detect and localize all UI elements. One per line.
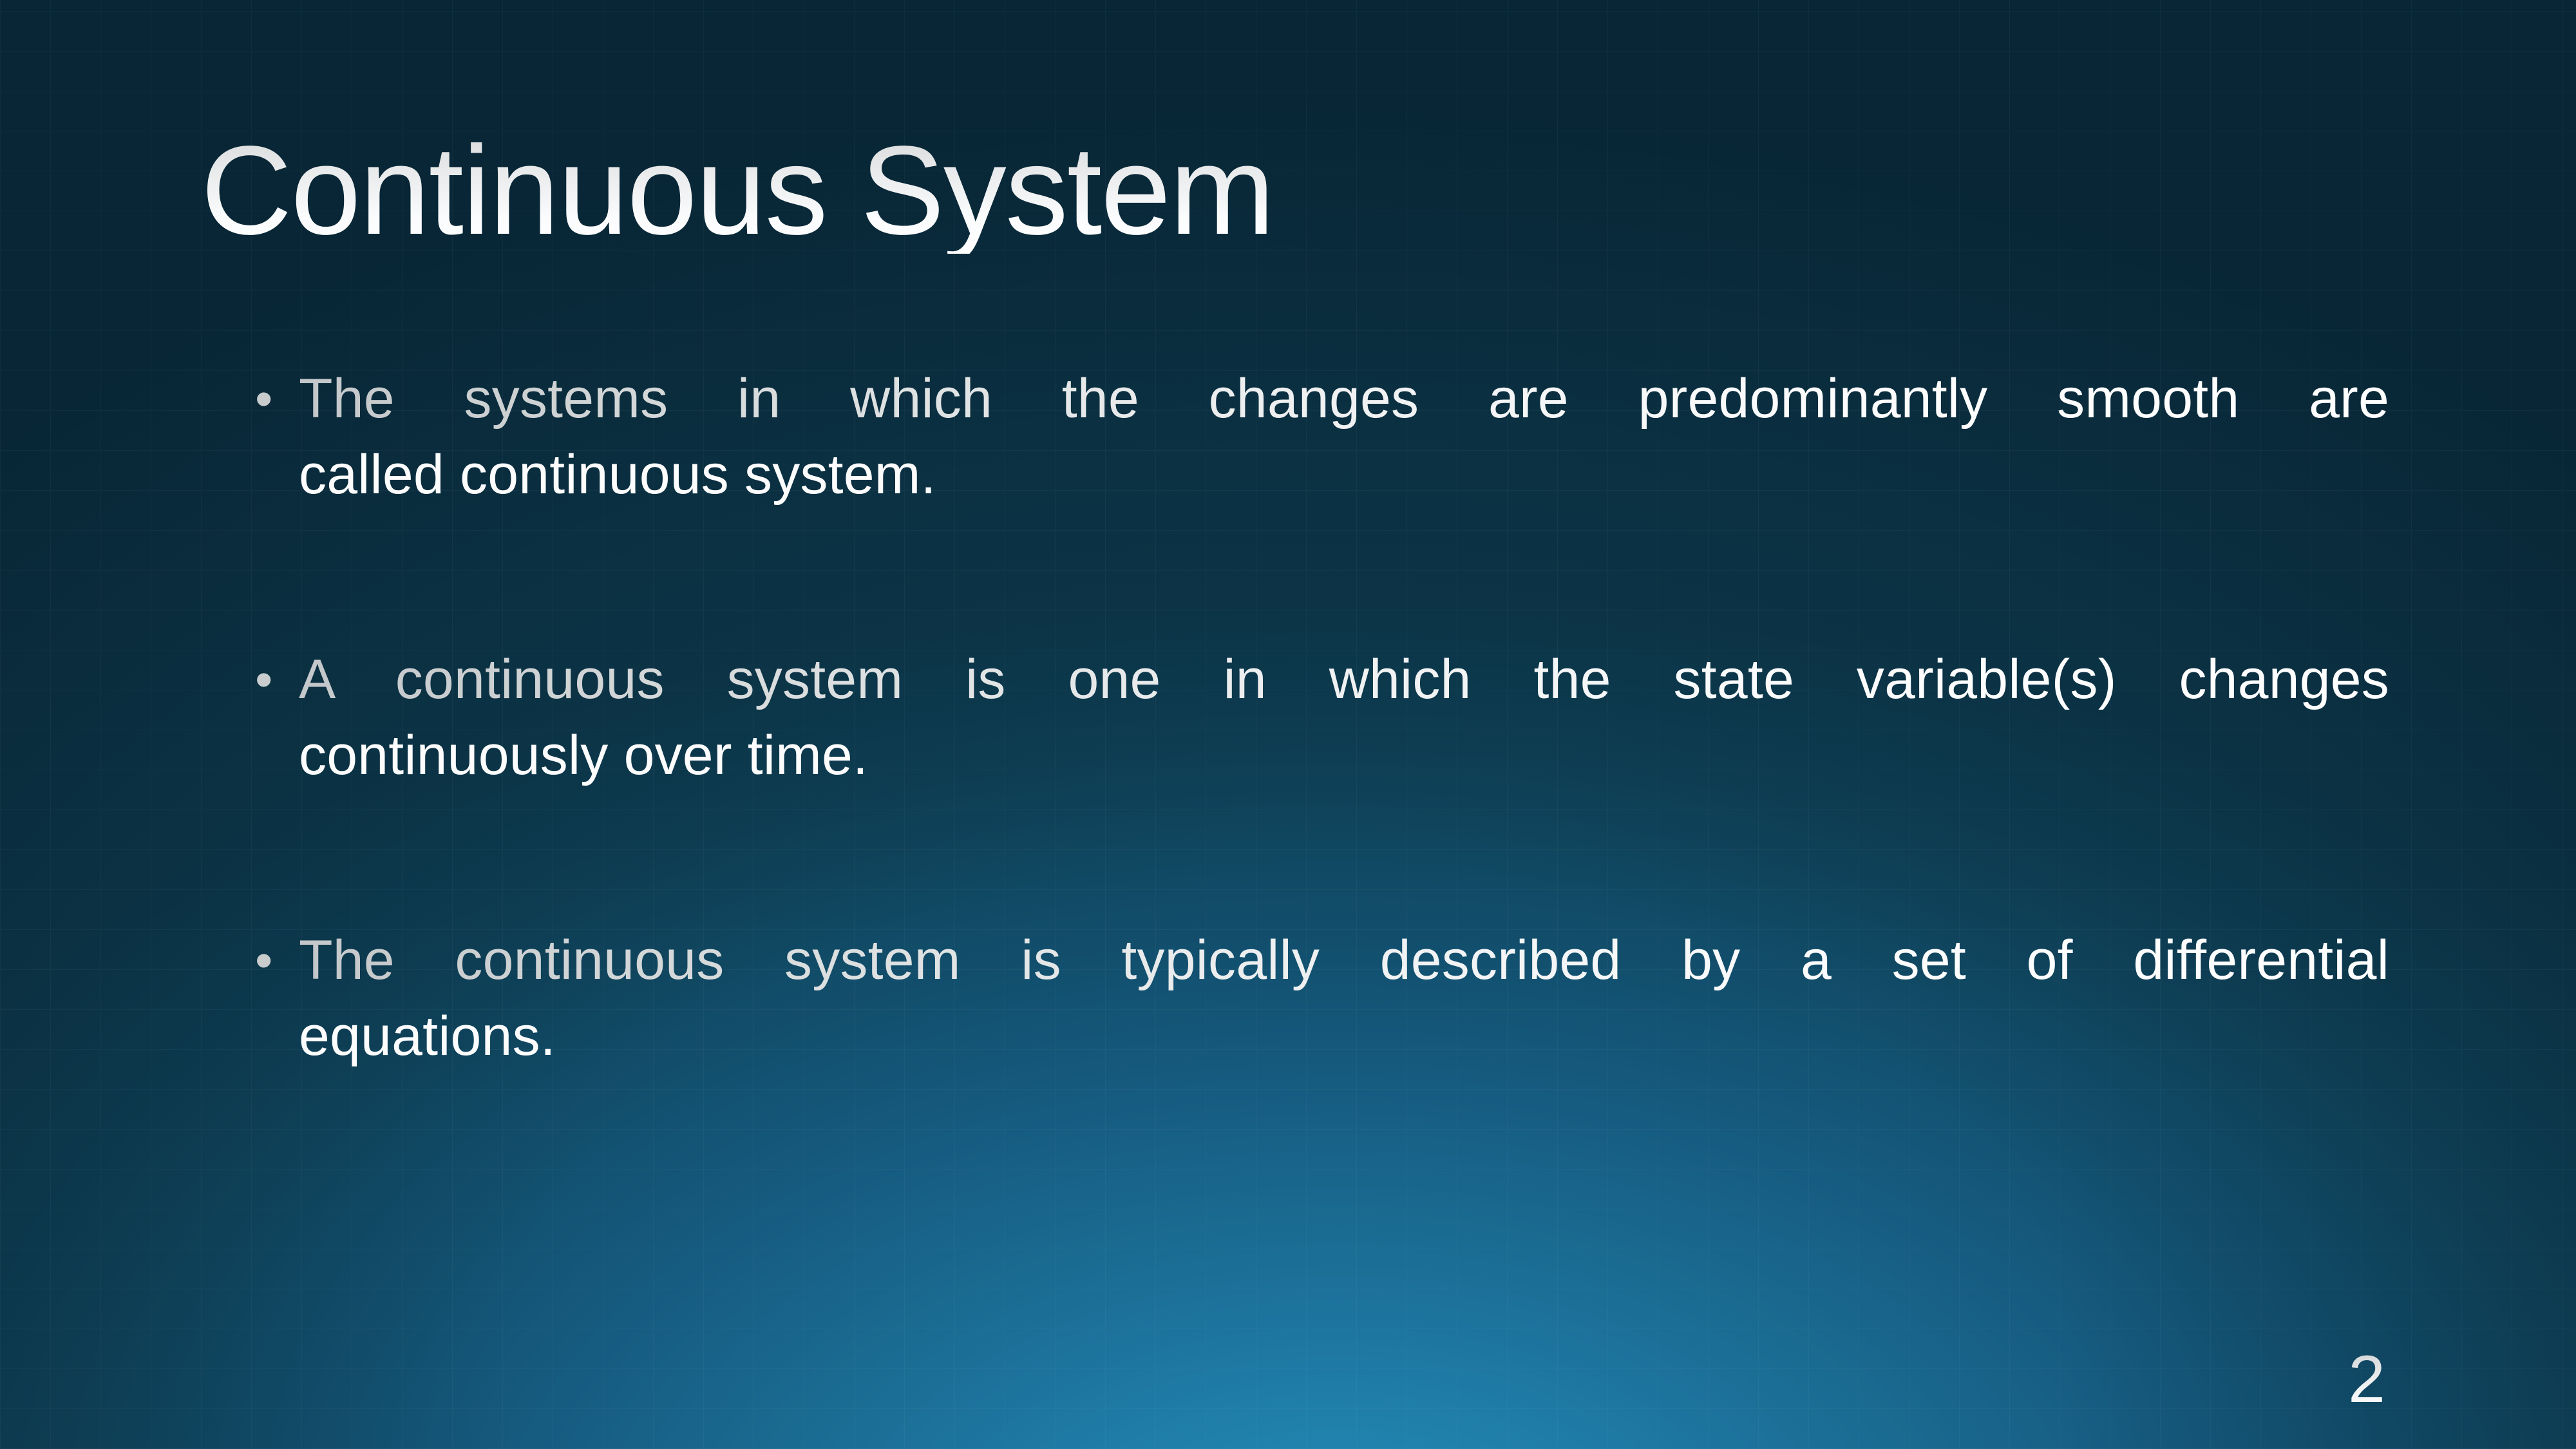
slide-page-number: 2 — [2348, 1346, 2385, 1413]
bullet-line-2: continuously over time. — [299, 717, 2389, 793]
bullet-line-1: The systems in which the changes are pre… — [299, 361, 2389, 437]
list-item: • The systems in which the changes are p… — [245, 361, 2389, 513]
list-item: • The continuous system is typically des… — [245, 922, 2389, 1074]
bullet-text: A continuous system is one in which the … — [299, 641, 2389, 793]
bullet-line-1: The continuous system is typically descr… — [299, 922, 2389, 998]
bullet-point-icon: • — [245, 641, 299, 717]
bullet-text: The systems in which the changes are pre… — [299, 361, 2389, 513]
bullet-line-1: A continuous system is one in which the … — [299, 641, 2389, 717]
bullet-text: The continuous system is typically descr… — [299, 922, 2389, 1074]
bullet-point-icon: • — [245, 922, 299, 998]
list-item: • A continuous system is one in which th… — [245, 641, 2389, 793]
bullet-line-2: equations. — [299, 998, 2389, 1074]
slide-title: Continuous System — [201, 128, 2391, 254]
bullet-point-icon: • — [245, 361, 299, 437]
presentation-slide: Continuous System • The systems in which… — [0, 0, 2576, 1449]
bullet-line-2: called continuous system. — [299, 437, 2389, 513]
bullet-list: • The systems in which the changes are p… — [245, 361, 2389, 1074]
slide-content: Continuous System • The systems in which… — [0, 0, 2576, 1449]
